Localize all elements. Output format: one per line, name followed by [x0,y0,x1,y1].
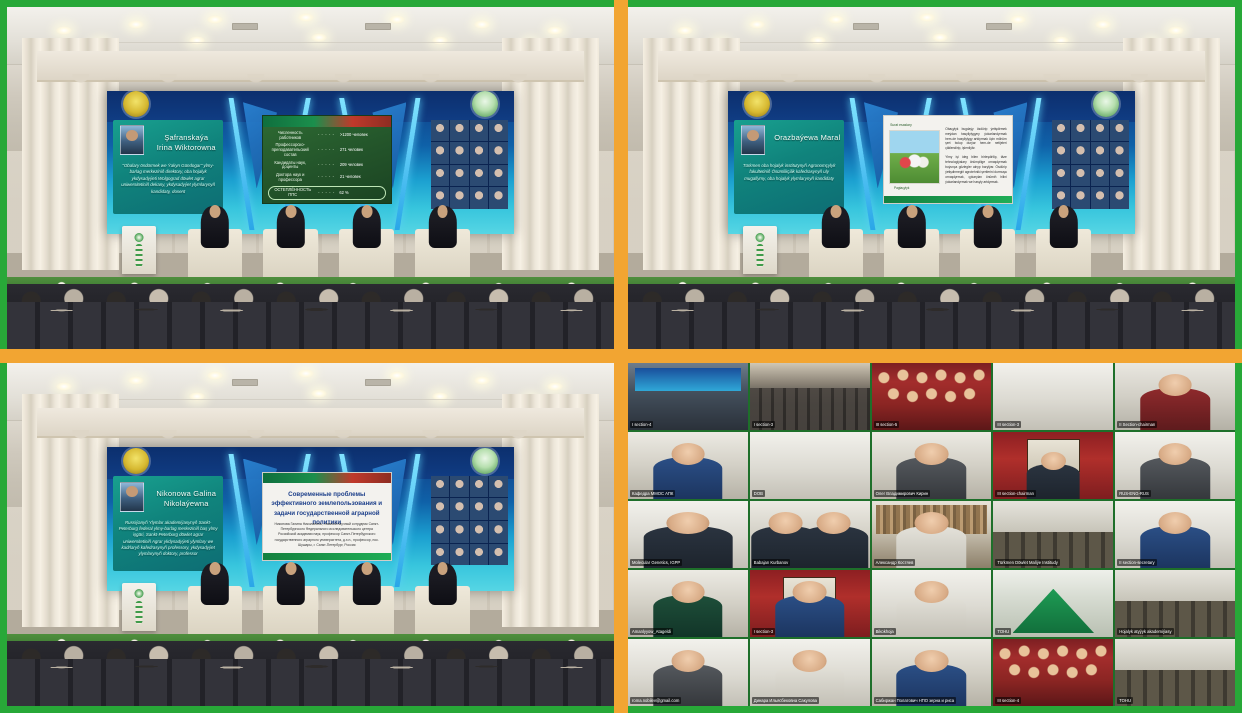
speaker-photo [120,482,144,512]
stat-row: Численность работников - - - - - >1200 ч… [268,131,386,140]
video-tile[interactable]: RUS-ENG-RUS [1115,432,1235,499]
auditorium-scene: Nikonowa Galina Nikolaýewna Russiýanyň Y… [7,363,614,706]
video-tile[interactable]: Hojalyk atyýyk akademiýasy [1115,570,1235,637]
video-tile-background [750,363,870,430]
valance [37,408,583,439]
video-tile[interactable]: Babajan Kurbanov [750,501,870,568]
participant-avatar [897,595,966,637]
videoconference-grid: I section-4I section-3III section-5III s… [628,363,1235,706]
podium [743,226,776,274]
audience [628,284,1235,349]
presentation-slide-title: Современные проблемы эффективного землеп… [262,472,392,561]
slide-body-text: Obaçylyk bugdaýy ösdürip ýetişdirmek meý… [945,127,1007,193]
participant-name-label: Hojalyk atyýyk akademiýasy [1117,628,1173,635]
participant-name-label: DOB [752,490,765,497]
university-emblem-icon [472,91,498,117]
panel-bottom-left[interactable]: Nikonowa Galina Nikolaýewna Russiýanyň Y… [0,356,621,713]
video-tile[interactable]: II Section-chairman [1115,363,1235,430]
participant-avatar [1140,457,1209,499]
video-tile-background [1115,570,1235,637]
panelist-seat [415,229,470,284]
video-tile-background [993,570,1113,637]
participant-name-label: I section-4 [630,421,653,428]
speaker-name: Şafranskaýa Irina Wiktorowna [153,133,220,153]
slide-paragraph-1: Obaçylyk bugdaýy ösdürip ýetişdirmek meý… [945,127,1007,152]
video-tile[interactable]: Александр Костяев [872,501,992,568]
video-tile[interactable]: Türkmen Döwlet Maliýe Institudy [993,501,1113,568]
participant-avatar [799,526,868,568]
presentation-slide-text-image: Surat esaslary Pagtaçylyk Obaçylyk bugda… [883,115,1013,204]
auditorium-scene: Orazbaýewa Maral Türkmen oba hojalyk ins… [628,7,1235,349]
panelist-seat [188,586,243,641]
slide-paragraph-2: Ylmy işi ideg bilen birleşdirilip, täze … [945,155,1007,185]
remote-participants-grid [1052,120,1129,209]
panelist-seat [263,229,318,284]
panelist-seat [415,586,470,641]
speaker-card: Şafranskaýa Irina Wiktorowna "Obalary ös… [113,120,223,215]
slide-bottom-band [884,196,1012,203]
video-tile-background [1115,639,1235,706]
panelists-row [177,586,481,641]
slide-header-band [263,116,391,126]
video-tile[interactable]: DOB [750,432,870,499]
speaker-card: Nikonowa Galina Nikolaýewna Russiýanyň Y… [113,476,223,571]
slide-header-band [263,473,391,483]
state-emblem-icon [123,91,149,117]
slide-bottom-band [263,553,391,560]
panel-bottom-right[interactable]: I section-4I section-3III section-5III s… [621,356,1242,713]
panelists-row [798,229,1102,284]
participant-name-label: III section-4 [995,697,1021,704]
valance [658,51,1204,82]
video-tile[interactable]: roma.nobilev@gmail.com [628,639,748,706]
video-tile[interactable]: III section-chairman [993,432,1113,499]
participant-name-label: TOHU [995,628,1011,635]
participant-name-label: Кафедра ММОС АПК [630,490,675,497]
state-emblem-icon [744,91,770,117]
speaker-photo [120,125,144,155]
participant-avatar [775,595,844,637]
audience [7,284,614,349]
video-tile[interactable]: Bikokhoja [872,570,992,637]
video-tile-background [993,501,1113,568]
panelist-seat [884,229,939,284]
speaker-name-line2: Nikolaýewna [153,499,220,509]
slide-caption-bottom: Pagtaçylyk [894,186,909,190]
video-tile[interactable]: TOHU [993,570,1113,637]
video-tile-background [872,363,992,430]
participant-name-label: Babajan Kurbanov [752,559,790,566]
participant-name-label: Динара Ильясбековна Сакулова [752,697,819,704]
audience [7,641,614,706]
video-tile[interactable]: Сабиржан Полатович НПО зерна и риса [872,639,992,706]
valance [37,51,583,82]
speaker-name-line1: Şafranskaýa [153,133,220,143]
panel-top-left[interactable]: Şafranskaýa Irina Wiktorowna "Obalary ös… [0,0,621,356]
slide-subtitle: Никонова Галина Николаевна, главный науч… [273,522,381,548]
podium [122,226,155,274]
podium [122,583,155,631]
video-tile-background [628,363,748,430]
stat-row-highlight: ОСТЕПЛЁННОСТЬ ППС - - - - - 62 % [268,186,386,199]
participant-name-label: III section-3 [995,421,1021,428]
video-tile-background [750,432,870,499]
panelist-seat [960,229,1015,284]
video-tile[interactable]: TOHU [1115,639,1235,706]
stat-row: Кандидаты наук, доценты - - - - - 209 че… [268,161,386,170]
panelist-seat [1036,229,1091,284]
video-tile[interactable]: I section-3 [750,570,870,637]
slide-photo [889,130,940,184]
video-tile[interactable]: III section-5 [872,363,992,430]
participant-name-label: roma.nobilev@gmail.com [630,697,681,704]
participant-name-label: III section-chairman [995,490,1036,497]
video-tile[interactable]: I section-4 [628,363,748,430]
speaker-card: Orazbaýewa Maral Türkmen oba hojalyk ins… [734,120,844,215]
participant-name-label: I section-3 [752,628,775,635]
video-tile[interactable]: Кафедра ММОС АПК [628,432,748,499]
video-tile[interactable]: II section-secretary [1115,501,1235,568]
speaker-photo [741,125,765,155]
speaker-name: Nikonowa Galina Nikolaýewna [153,489,220,509]
speaker-name-line2: Irina Wiktorowna [153,143,220,153]
video-tile[interactable]: Олег Владимирович Кирин [872,432,992,499]
speaker-name: Orazbaýewa Maral [774,133,841,143]
participant-name-label: Олег Владимирович Кирин [874,490,931,497]
panelist-seat [339,586,394,641]
speaker-description: Türkmen oba hojalyk institutynyň Agronom… [740,163,839,182]
remote-participants-grid [431,120,508,209]
panelist-seat [188,229,243,284]
panel-top-right[interactable]: Orazbaýewa Maral Türkmen oba hojalyk ins… [621,0,1242,356]
presentation-slide-statistics: Численность работников - - - - - >1200 ч… [262,115,392,204]
video-tile[interactable]: Amanlyyow_Atageldi [628,570,748,637]
participant-name-label: RUS-ENG-RUS [1117,490,1151,497]
participant-name-label: III section-5 [874,421,900,428]
statistics-list: Численность работников - - - - - >1200 ч… [268,131,386,200]
stat-row: Профессорско-преподавательский состав - … [268,143,386,157]
video-tile[interactable]: Molecular Genetics, IGPP [628,501,748,568]
panelist-seat [339,229,394,284]
panelist-seat [263,586,318,641]
speaker-name-line1: Nikonowa Galina [153,489,220,499]
university-emblem-icon [1093,91,1119,117]
participant-name-label: Александр Костяев [874,559,916,566]
participant-name-label: II section-secretary [1117,559,1156,566]
stat-row: Доктора наук и профессора - - - - - 21 ч… [268,173,386,182]
video-tile[interactable]: Динара Ильясбековна Сакулова [750,639,870,706]
panelist-seat [809,229,864,284]
participant-name-label: I section-3 [752,421,775,428]
participant-name-label: Сабиржан Полатович НПО зерна и риса [874,697,957,704]
video-tile-background [993,363,1113,430]
video-tile-background [993,639,1113,706]
auditorium-scene: Şafranskaýa Irina Wiktorowna "Obalary ös… [7,7,614,349]
video-tile[interactable]: III section-4 [993,639,1113,706]
participant-name-label: Bikokhoja [874,628,896,635]
state-emblem-icon [123,448,149,474]
participant-name-label: II Section-chairman [1117,421,1157,428]
participant-name-label: Amanlyyow_Atageldi [630,628,673,635]
divider-horizontal [0,349,1242,363]
slide-caption-left: Surat esaslary [890,123,912,127]
speaker-description: Russiýanyň Ylymlar akademiýasynyň Sankt-… [119,520,218,558]
participant-name-label: Molecular Genetics, IGPP [630,559,682,566]
video-tile[interactable]: III section-3 [993,363,1113,430]
university-emblem-icon [472,448,498,474]
speaker-name-line1: Orazbaýewa Maral [774,133,841,143]
video-tile[interactable]: I section-3 [750,363,870,430]
participant-name-label: TOHU [1117,697,1133,704]
participant-name-label: Türkmen Döwlet Maliýe Institudy [995,559,1060,566]
speaker-description: "Obalary ösdürmek we Ýakyn Gündogar" ylm… [119,163,218,195]
panelists-row [177,229,481,284]
remote-participants-grid [431,476,508,565]
photo-collage: Şafranskaýa Irina Wiktorowna "Obalary ös… [0,0,1242,713]
